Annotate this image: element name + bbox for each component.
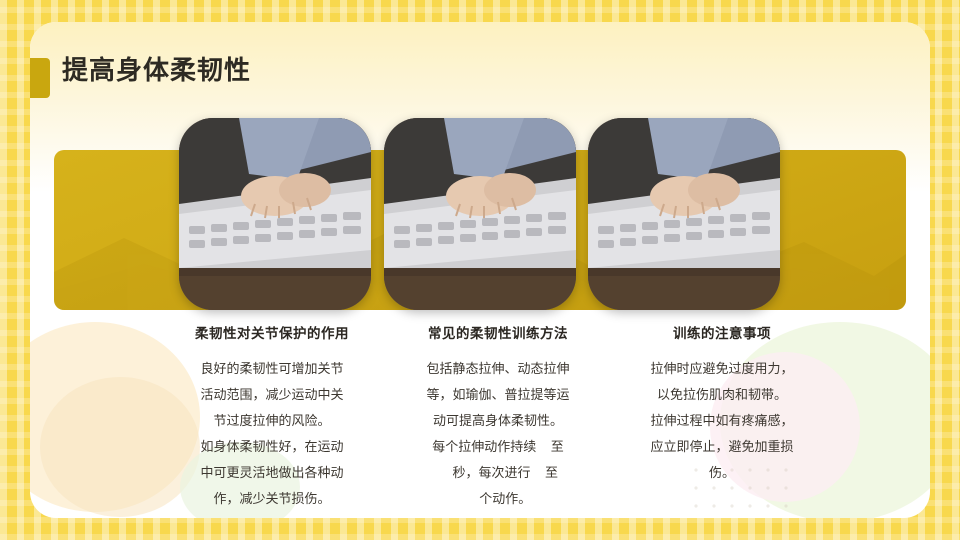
column-3-heading: 训练的注意事项 bbox=[594, 322, 850, 342]
column-3-line-3: 拉伸过程中如有疼痛感， bbox=[594, 408, 850, 434]
column-1-line-1: 良好的柔韧性可增加关节 bbox=[144, 356, 400, 382]
column-3-body: 拉伸时应避免过度用力， 以免拉伤肌肉和韧带。 拉伸过程中如有疼痛感， 应立即停止… bbox=[594, 356, 850, 486]
photo-graphic-2 bbox=[384, 118, 576, 310]
column-2: 常见的柔韧性训练方法 包括静态拉伸、动态拉伸 等，如瑜伽、普拉提等运 动可提高身… bbox=[370, 322, 626, 512]
column-1-line-6: 作，减少关节损伤。 bbox=[144, 486, 400, 512]
column-3: 训练的注意事项 拉伸时应避免过度用力， 以免拉伤肌肉和韧带。 拉伸过程中如有疼痛… bbox=[594, 322, 850, 486]
page-title: 提高身体柔韧性 bbox=[62, 50, 251, 87]
title-accent-tab bbox=[30, 58, 50, 98]
column-1-line-4: 如身体柔韧性好，在运动 bbox=[144, 434, 400, 460]
column-2-heading: 常见的柔韧性训练方法 bbox=[370, 322, 626, 342]
column-1-body: 良好的柔韧性可增加关节 活动范围，减少运动中关 节过度拉伸的风险。 如身体柔韧性… bbox=[144, 356, 400, 512]
column-1-line-5: 中可更灵活地做出各种动 bbox=[144, 460, 400, 486]
column-2-line-6: 个动作。 bbox=[370, 486, 626, 512]
photo-graphic-3 bbox=[588, 118, 780, 310]
column-2-body: 包括静态拉伸、动态拉伸 等，如瑜伽、普拉提等运 动可提高身体柔韧性。 每个拉伸动… bbox=[370, 356, 626, 512]
column-2-line-3: 动可提高身体柔韧性。 bbox=[370, 408, 626, 434]
photo-hands-keyboard-1 bbox=[179, 118, 371, 310]
column-3-line-5: 伤。 bbox=[594, 460, 850, 486]
photo-hands-keyboard-3 bbox=[588, 118, 780, 310]
column-1: 柔韧性对关节保护的作用 良好的柔韧性可增加关节 活动范围，减少运动中关 节过度拉… bbox=[144, 322, 400, 512]
text-columns: 柔韧性对关节保护的作用 良好的柔韧性可增加关节 活动范围，减少运动中关 节过度拉… bbox=[54, 322, 906, 512]
slide-card: 提高身体柔韧性 bbox=[30, 22, 930, 518]
column-2-line-2: 等，如瑜伽、普拉提等运 bbox=[370, 382, 626, 408]
photo-row bbox=[54, 118, 906, 318]
column-2-line-1: 包括静态拉伸、动态拉伸 bbox=[370, 356, 626, 382]
column-1-heading: 柔韧性对关节保护的作用 bbox=[144, 322, 400, 342]
photo-graphic-1 bbox=[179, 118, 371, 310]
column-1-line-2: 活动范围，减少运动中关 bbox=[144, 382, 400, 408]
column-2-line-5: 秒，每次进行 至 bbox=[370, 460, 626, 486]
column-1-line-3: 节过度拉伸的风险。 bbox=[144, 408, 400, 434]
column-3-line-2: 以免拉伤肌肉和韧带。 bbox=[594, 382, 850, 408]
column-3-line-4: 应立即停止，避免加重损 bbox=[594, 434, 850, 460]
column-3-line-1: 拉伸时应避免过度用力， bbox=[594, 356, 850, 382]
photo-hands-keyboard-2 bbox=[384, 118, 576, 310]
column-2-line-4: 每个拉伸动作持续 至 bbox=[370, 434, 626, 460]
